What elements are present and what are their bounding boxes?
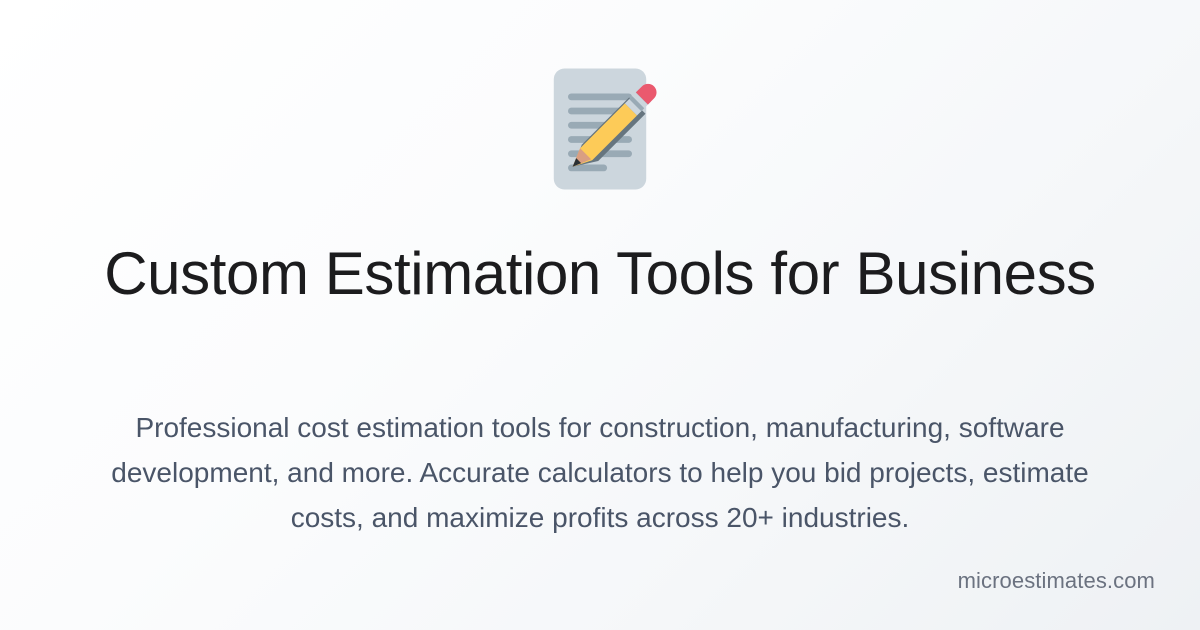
og-card: Custom Estimation Tools for Business Pro… — [0, 0, 1200, 630]
page-title: Custom Estimation Tools for Business — [0, 238, 1200, 310]
page-description: Professional cost estimation tools for c… — [0, 405, 1200, 540]
memo-emoji-svg — [536, 65, 664, 193]
memo-emoji-icon — [536, 62, 664, 196]
site-domain-label: microestimates.com — [958, 568, 1155, 594]
